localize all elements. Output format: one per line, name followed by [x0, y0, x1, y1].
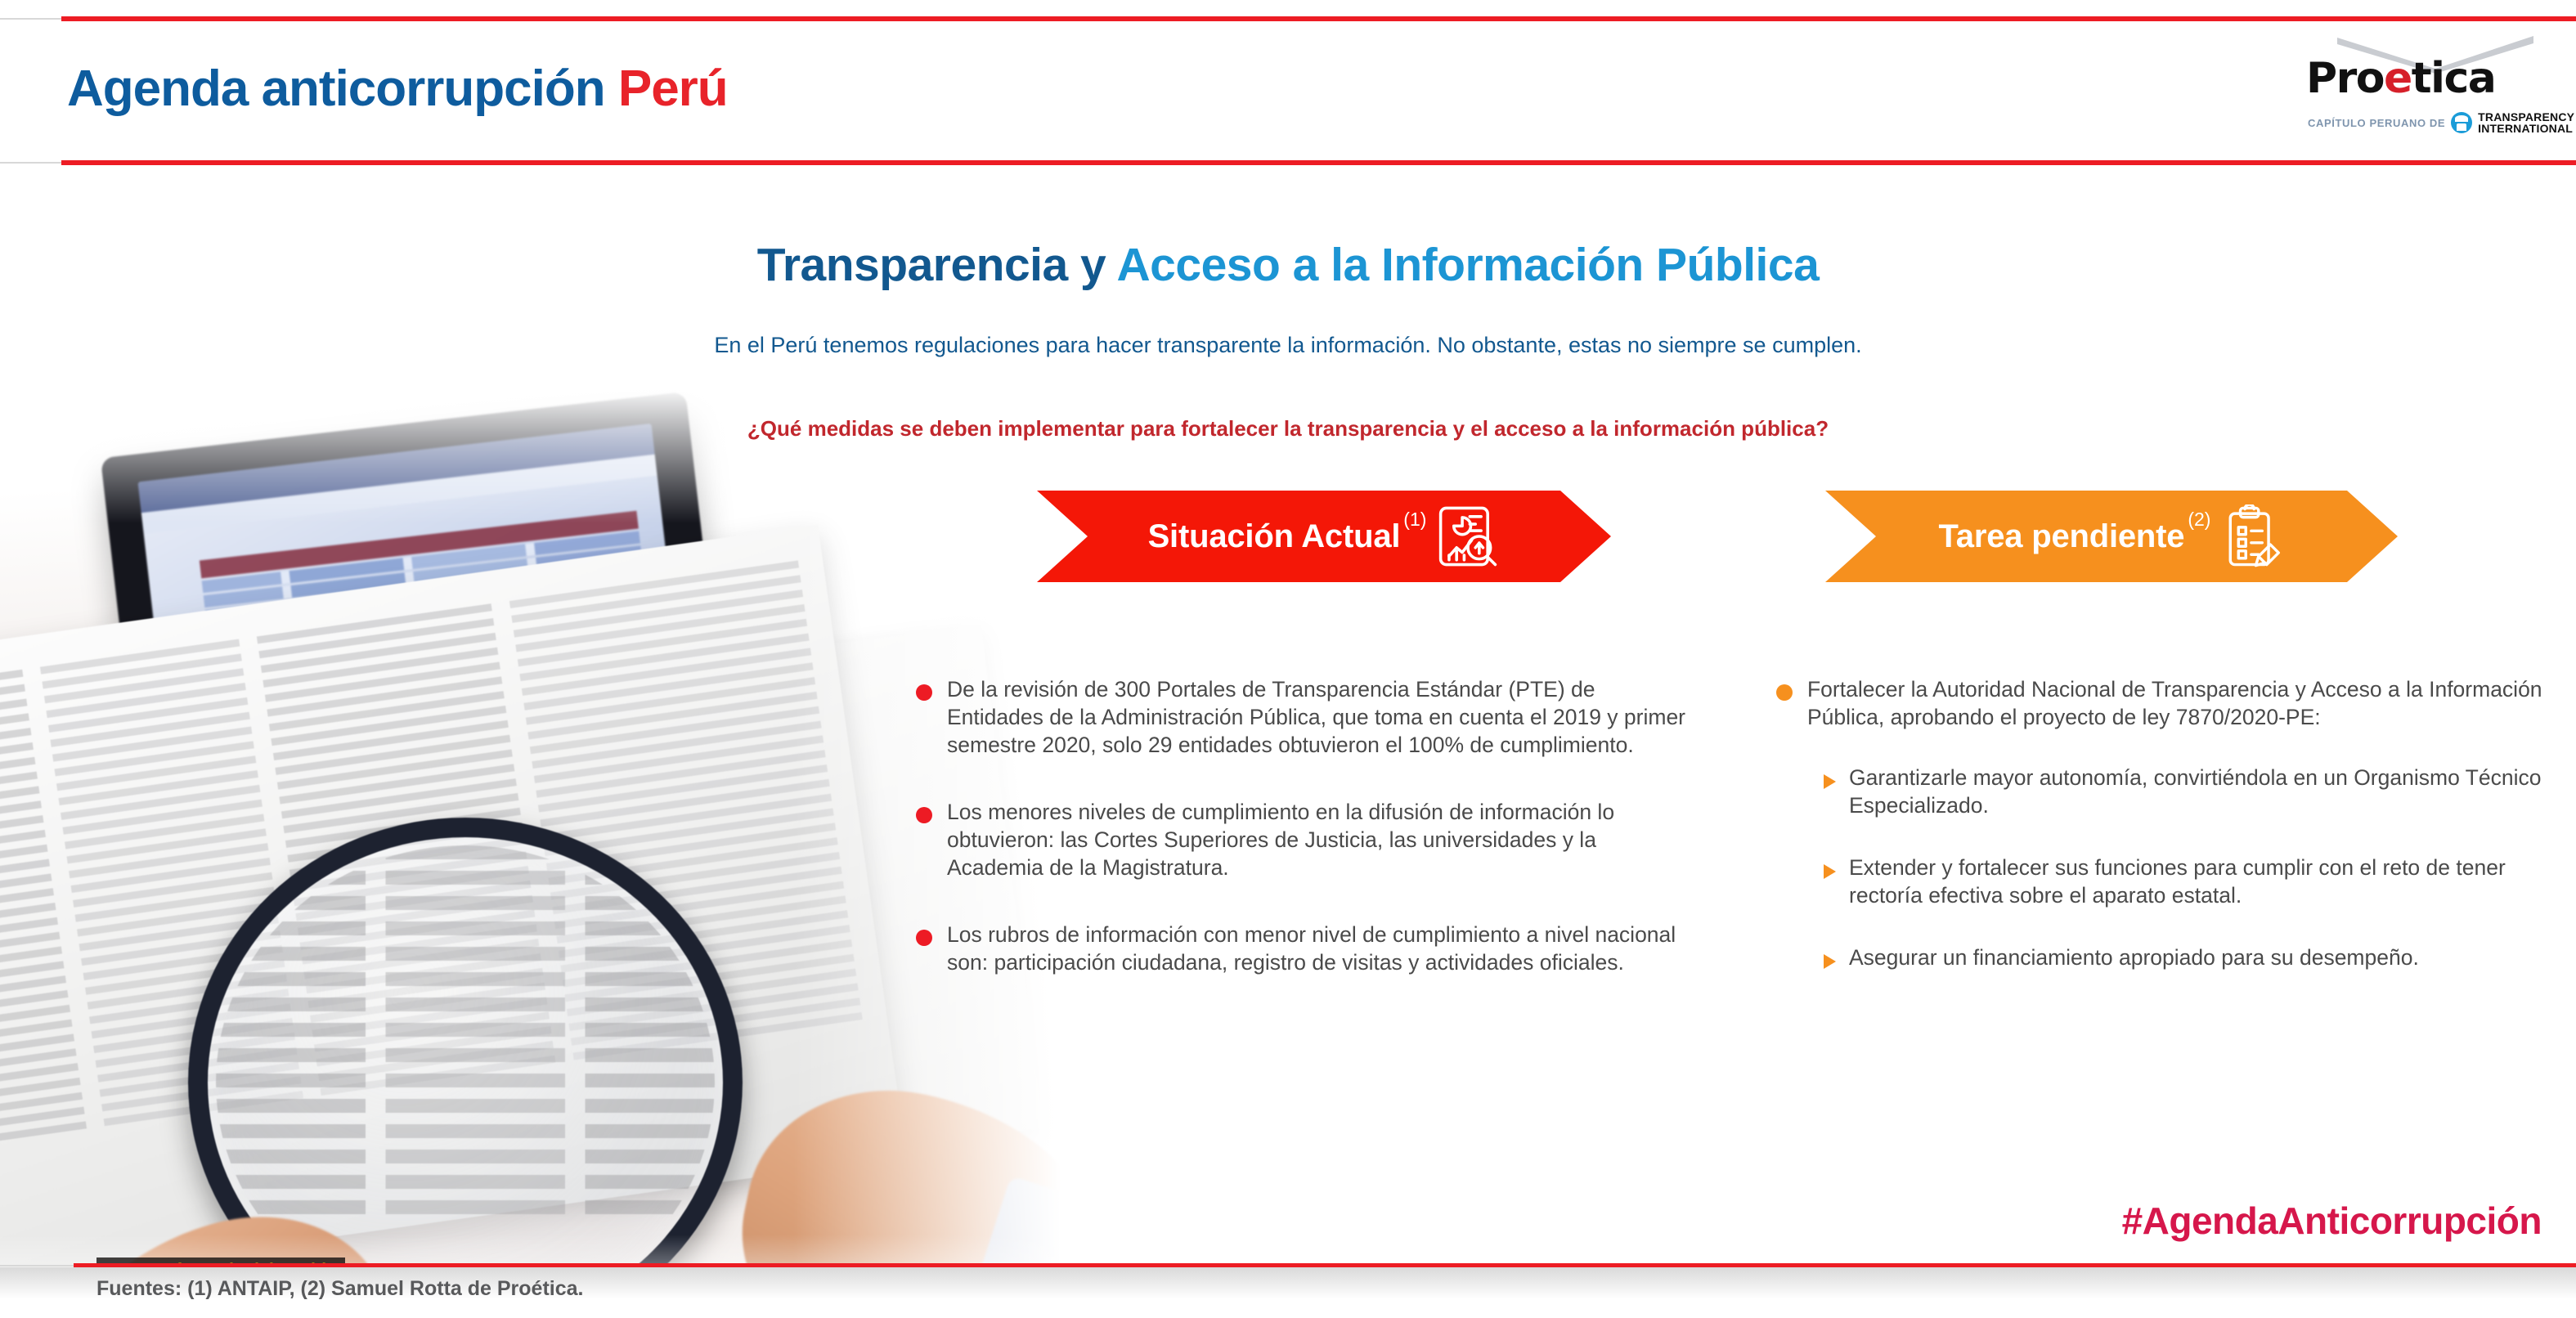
logo-wordmark: Proetica	[2306, 57, 2495, 100]
sub-list-item-text: Garantizarle mayor autonomía, convirtién…	[1849, 764, 2561, 819]
page-subtitle: En el Perú tenemos regulaciones para hac…	[0, 333, 2576, 358]
magnified-line	[216, 1048, 715, 1062]
banner-left-superscript: (1)	[1403, 509, 1426, 531]
page-title-dark: Transparencia y	[757, 239, 1106, 291]
slide-root: Agenda anticorrupción Perú Proetica CAPÍ…	[0, 0, 2576, 1318]
banner-tarea-pendiente: Tarea pendiente (2)	[1825, 491, 2398, 582]
bullet-dot-icon	[916, 684, 932, 701]
column-situacion-actual: De la revisión de 300 Portales de Transp…	[916, 675, 1693, 1015]
list-item-text: Los rubros de información con menor nive…	[947, 921, 1693, 976]
sub-list-item: Garantizarle mayor autonomía, convirtién…	[1824, 764, 2561, 819]
sub-list: Garantizarle mayor autonomía, convirtién…	[1776, 764, 2561, 971]
banner-situacion-actual: Situación Actual (1)	[1037, 491, 1611, 582]
magnified-line	[216, 1124, 715, 1138]
header-title: Agenda anticorrupción Perú	[67, 64, 728, 114]
page-title: Transparencia y Acceso a la Información …	[0, 242, 2576, 289]
bullet-dot-icon	[1776, 684, 1793, 701]
clipboard-checklist-pencil-icon	[2220, 504, 2284, 569]
sources-note: Fuentes: (1) ANTAIP, (2) Samuel Rotta de…	[96, 1277, 583, 1301]
list-item-text: De la revisión de 300 Portales de Transp…	[947, 675, 1693, 759]
header-title-country: Perú	[618, 61, 728, 117]
list-item-text: Fortalecer la Autoridad Nacional de Tran…	[1807, 675, 2561, 731]
column-tarea-pendiente: Fortalecer la Autoridad Nacional de Tran…	[1776, 675, 2561, 1006]
magnified-line	[216, 1099, 715, 1113]
sub-list-item: Extender y fortalecer sus funciones para…	[1824, 854, 2561, 909]
logo-word-post: tica	[2412, 54, 2496, 103]
logo-caption: CAPÍTULO PERUANO DE	[2308, 117, 2445, 129]
triangle-bullet-icon	[1824, 774, 1836, 789]
list-item-text: Los menores niveles de cumplimiento en l…	[947, 798, 1693, 881]
banner-right-label: Tarea pendiente	[1939, 520, 2185, 553]
header-rule-bottom	[61, 160, 2576, 165]
magnified-line	[216, 1023, 715, 1037]
sub-list-item-text: Extender y fortalecer sus funciones para…	[1849, 854, 2561, 909]
banner-left-label: Situación Actual	[1148, 520, 1401, 553]
bullet-dot-icon	[916, 930, 932, 946]
magnifier-lens-content	[216, 845, 715, 1284]
header-title-primary: Agenda anticorrupción	[67, 61, 605, 117]
logo-subline: CAPÍTULO PERUANO DE TRANSPARENCY INTERNA…	[2308, 111, 2574, 135]
magnified-line	[216, 947, 715, 961]
campaign-hashtag: #AgendaAnticorrupción	[2122, 1199, 2542, 1243]
sub-list-item: Asegurar un financiamiento apropiado par…	[1824, 944, 2561, 971]
magnified-line	[216, 1200, 715, 1214]
triangle-bullet-icon	[1824, 864, 1836, 879]
triangle-bullet-icon	[1824, 954, 1836, 969]
magnified-line	[216, 997, 715, 1011]
magnified-line	[216, 1150, 715, 1163]
list-item: Fortalecer la Autoridad Nacional de Tran…	[1776, 675, 2561, 731]
banner-right-superscript: (2)	[2188, 509, 2210, 531]
bullet-dot-icon	[916, 807, 932, 823]
logo-word-accent: e	[2384, 54, 2412, 103]
magnified-line	[216, 896, 715, 910]
header-rule-thin-bottom	[0, 162, 64, 164]
logo-word-pre: Pro	[2306, 54, 2384, 103]
transparency-international-icon	[2451, 112, 2472, 133]
list-item: De la revisión de 300 Portales de Transp…	[916, 675, 1693, 759]
logo-ti-text: TRANSPARENCY INTERNATIONAL	[2478, 111, 2574, 135]
footer-rule	[74, 1263, 2576, 1267]
proetica-logo: Proetica CAPÍTULO PERUANO DE TRANSPARENC…	[2296, 36, 2542, 141]
sub-list-item-text: Asegurar un financiamiento apropiado par…	[1849, 944, 2419, 971]
list-item: Los rubros de información con menor nive…	[916, 921, 1693, 976]
magnified-line	[216, 1074, 715, 1087]
magnified-line	[216, 1175, 715, 1189]
logo-ti-line2: INTERNATIONAL	[2478, 122, 2573, 135]
footer-rule-thin	[0, 1265, 75, 1266]
header-rule-top	[61, 16, 2576, 21]
magnified-line	[216, 921, 715, 935]
page-title-light: Acceso a la Información Pública	[1117, 239, 1820, 291]
list-item: Los menores niveles de cumplimiento en l…	[916, 798, 1693, 881]
report-analytics-magnifier-icon	[1436, 504, 1500, 569]
header-rule-thin-top	[0, 18, 64, 20]
magnified-line	[216, 972, 715, 986]
page-question: ¿Qué medidas se deben implementar para f…	[0, 416, 2576, 442]
